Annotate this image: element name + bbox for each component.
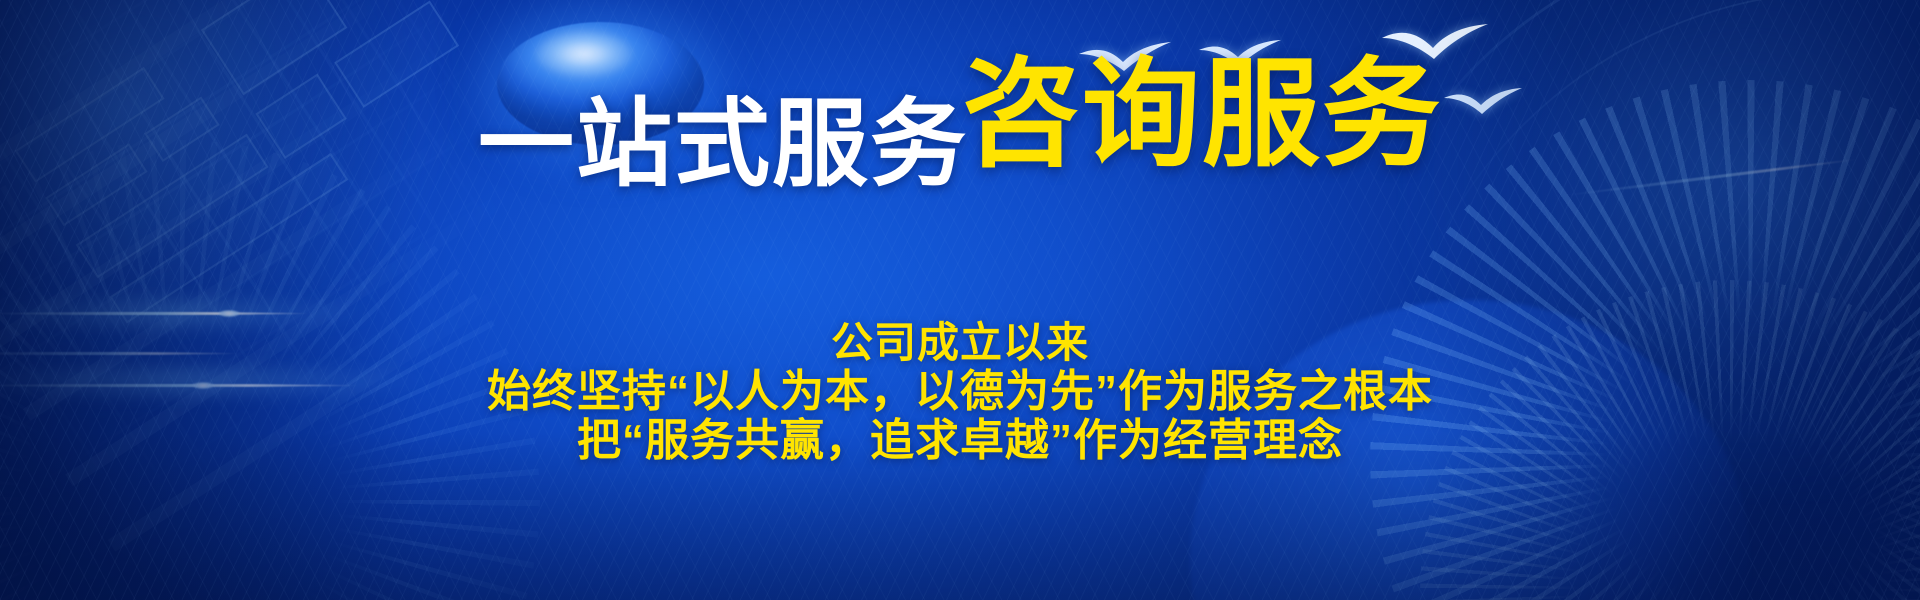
body-paragraph: 公司成立以来 始终坚持“以人为本，以德为先”作为服务之根本 把“服务共赢，追求卓… [0,318,1920,465]
banner-content: 一站式服务咨询服务 公司成立以来 始终坚持“以人为本，以德为先”作为服务之根本 … [0,0,1920,600]
promotional-banner: 一站式服务咨询服务 公司成立以来 始终坚持“以人为本，以德为先”作为服务之根本 … [0,0,1920,600]
body-line-2: 始终坚持“以人为本，以德为先”作为服务之根本 [0,367,1920,416]
body-line-3: 把“服务共赢，追求卓越”作为经营理念 [0,416,1920,465]
headline-primary-text: 一站式服务 [478,91,968,198]
headline: 一站式服务咨询服务 [0,78,1920,196]
body-line-1: 公司成立以来 [0,318,1920,367]
headline-accent-text: 咨询服务 [962,49,1442,181]
